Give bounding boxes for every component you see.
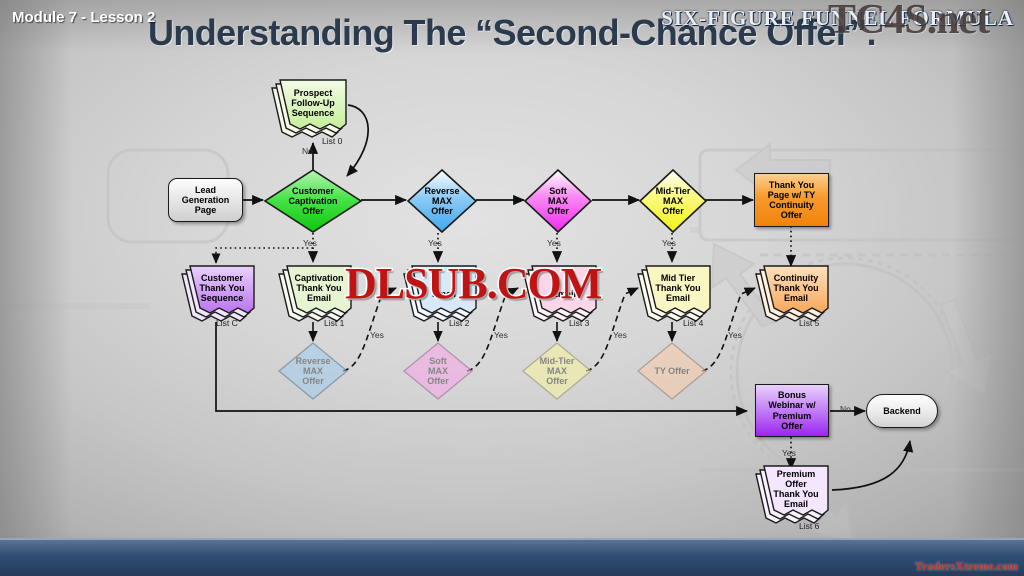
edge-label-bonus-no: No	[840, 404, 851, 414]
node-label: PremiumOfferThank YouEmail	[764, 464, 828, 514]
list-tag-2: List 2	[449, 318, 469, 328]
node-reverse-max-thank-you-email[interactable]: Email	[404, 270, 480, 324]
node-label: CustomerThank YouSequence	[190, 264, 254, 312]
node-reverse-max-offer[interactable]: ReverseMAXOffer	[407, 169, 477, 233]
node-label: SoftMAXOffer	[524, 169, 592, 233]
node-thank-you-page-continuity[interactable]: Thank YouPage w/ TYContinuityOffer	[754, 173, 829, 227]
node-label: BonusWebinar w/PremiumOffer	[756, 385, 828, 436]
list-tag-c: List C	[216, 318, 238, 328]
node-label: ProspectFollow-UpSequence	[280, 78, 346, 128]
edge-label-list2-yes: Yes	[494, 330, 508, 340]
node-prospect-followup-sequence[interactable]: ProspectFollow-UpSequence	[272, 84, 350, 140]
node-customer-thank-you-sequence[interactable]: CustomerThank YouSequence	[182, 270, 258, 324]
node-label: CustomerCaptivationOffer	[264, 169, 362, 233]
edge-label-bonus-yes: Yes	[782, 448, 796, 458]
node-label: ReverseMAXOffer	[278, 342, 348, 400]
node-midtier-max-offer-repeat[interactable]: Mid-TierMAXOffer	[522, 342, 592, 400]
list-tag-0: List 0	[322, 136, 342, 146]
node-label: TY Offer	[637, 342, 707, 400]
edge-label-captivation-no: No	[302, 146, 313, 156]
list-tag-1: List 1	[324, 318, 344, 328]
list-tag-5: List 5	[799, 318, 819, 328]
slide-canvas: LeadGenerationPage ProspectFollow-UpSequ…	[0, 0, 1024, 576]
edge-label-list4-yes: Yes	[728, 330, 742, 340]
node-label: Mid-TierMAXOffer	[639, 169, 707, 233]
edge-label-midtier-yes: Yes	[662, 238, 676, 248]
node-soft-max-thank-you-email[interactable]: Email	[524, 270, 600, 324]
node-continuity-thank-you-email[interactable]: ContinuityThank YouEmail	[756, 270, 832, 324]
node-backend[interactable]: Backend	[866, 394, 938, 428]
node-ty-offer-repeat[interactable]: TY Offer	[637, 342, 707, 400]
list-tag-6: List 6	[799, 521, 819, 531]
node-label: Backend	[867, 395, 937, 427]
node-reverse-max-offer-repeat[interactable]: ReverseMAXOffer	[278, 342, 348, 400]
node-label: Thank YouPage w/ TYContinuityOffer	[755, 174, 828, 226]
node-label: LeadGenerationPage	[169, 179, 242, 221]
edge-label-reverse-yes: Yes	[428, 238, 442, 248]
node-mid-tier-thank-you-email[interactable]: Mid TierThank YouEmail	[638, 270, 714, 324]
node-customer-captivation-offer[interactable]: CustomerCaptivationOffer	[264, 169, 362, 233]
node-label: Mid TierThank YouEmail	[646, 264, 710, 312]
node-midtier-max-offer[interactable]: Mid-TierMAXOffer	[639, 169, 707, 233]
list-tag-4: List 4	[683, 318, 703, 328]
edge-label-list1-yes: Yes	[370, 330, 384, 340]
node-lead-generation-page[interactable]: LeadGenerationPage	[168, 178, 243, 222]
flow-connectors	[0, 0, 1024, 576]
edge-label-soft-yes: Yes	[547, 238, 561, 248]
node-label: Mid-TierMAXOffer	[522, 342, 592, 400]
node-soft-max-offer-repeat[interactable]: SoftMAXOffer	[403, 342, 473, 400]
node-label: SoftMAXOffer	[403, 342, 473, 400]
edge-label-captivation-yes: Yes	[303, 238, 317, 248]
node-label: CaptivationThank YouEmail	[287, 264, 351, 312]
node-label: Email	[412, 282, 476, 306]
node-soft-max-offer[interactable]: SoftMAXOffer	[524, 169, 592, 233]
node-label: ReverseMAXOffer	[407, 169, 477, 233]
edge-label-list3-yes: Yes	[613, 330, 627, 340]
node-bonus-webinar-premium-offer[interactable]: BonusWebinar w/PremiumOffer	[755, 384, 829, 437]
list-tag-3: List 3	[569, 318, 589, 328]
node-label: ContinuityThank YouEmail	[764, 264, 828, 312]
node-premium-offer-thank-you-email[interactable]: PremiumOfferThank YouEmail	[756, 470, 832, 526]
node-captivation-thank-you-email[interactable]: CaptivationThank YouEmail	[279, 270, 355, 324]
node-label: Email	[532, 282, 596, 306]
